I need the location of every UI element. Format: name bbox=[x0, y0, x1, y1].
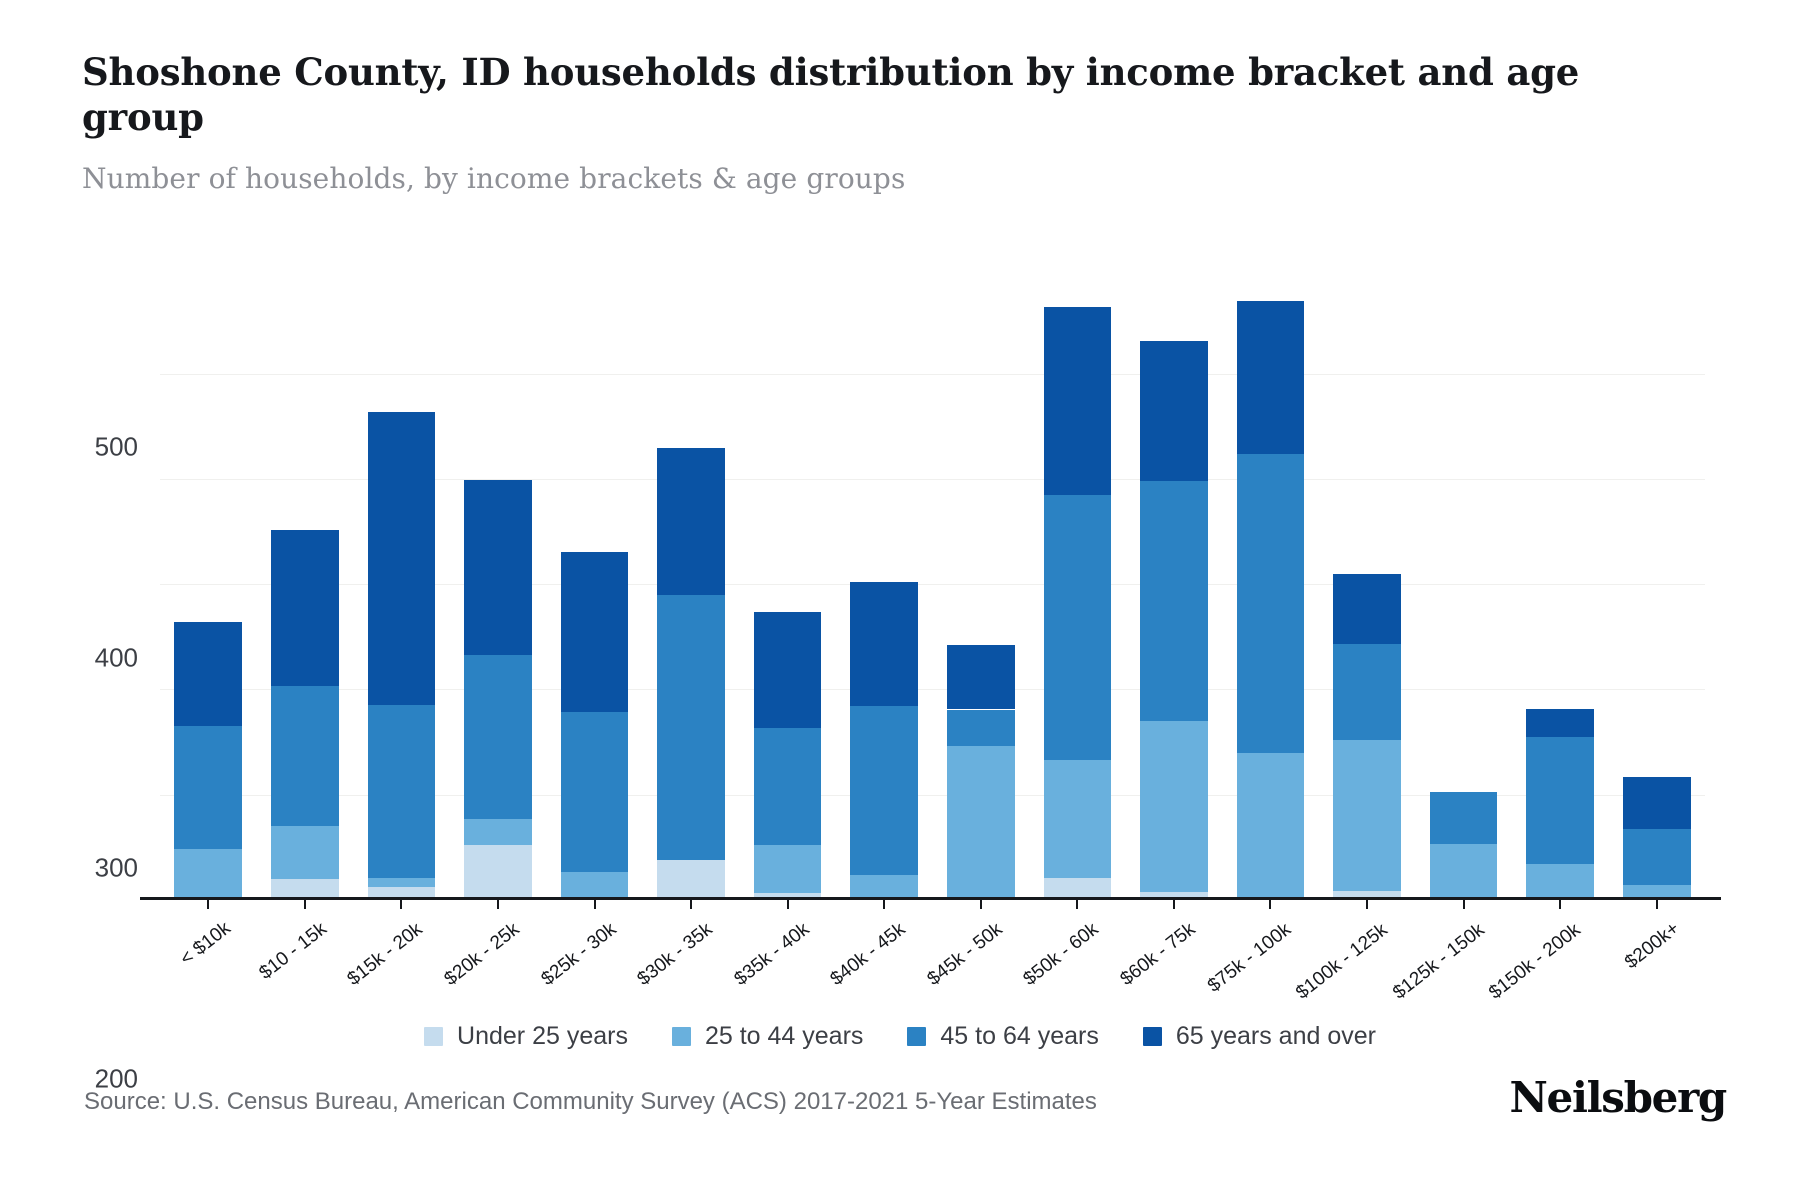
x-axis-tick bbox=[690, 900, 692, 909]
bar-segment[interactable] bbox=[1044, 307, 1112, 494]
bar-segment[interactable] bbox=[1044, 760, 1112, 878]
bar-segment[interactable] bbox=[174, 726, 242, 849]
bar-segment[interactable] bbox=[1430, 792, 1498, 845]
y-axis-tick-label: 300 bbox=[95, 853, 138, 884]
bar-segment[interactable] bbox=[1333, 644, 1401, 740]
x-axis-tick bbox=[980, 900, 982, 909]
legend-label: 45 to 64 years bbox=[940, 1022, 1098, 1051]
x-axis-tick bbox=[1463, 900, 1465, 909]
bar-segment[interactable] bbox=[464, 655, 532, 819]
bar-segment[interactable] bbox=[1140, 481, 1208, 721]
y-axis-tick-label: 400 bbox=[95, 642, 138, 673]
bar-stack[interactable] bbox=[1333, 300, 1401, 900]
bar-segment[interactable] bbox=[464, 480, 532, 655]
bar-stack[interactable] bbox=[754, 300, 822, 900]
bar-segment[interactable] bbox=[368, 878, 436, 887]
x-axis-line bbox=[140, 897, 1721, 900]
bar-segment[interactable] bbox=[657, 595, 725, 860]
bar-segment[interactable] bbox=[947, 710, 1015, 747]
bar-stack[interactable] bbox=[1526, 300, 1594, 900]
x-axis-tick bbox=[594, 900, 596, 909]
bar-segment[interactable] bbox=[1237, 753, 1305, 900]
bar-stack[interactable] bbox=[368, 300, 436, 900]
bar-segment[interactable] bbox=[657, 860, 725, 900]
legend-label: 65 years and over bbox=[1176, 1022, 1376, 1051]
bar-segment[interactable] bbox=[947, 645, 1015, 709]
chart-legend: Under 25 years25 to 44 years45 to 64 yea… bbox=[0, 1022, 1800, 1051]
x-axis-tick-label: $125k - 150k bbox=[1389, 919, 1489, 1004]
bar-stack[interactable] bbox=[850, 300, 918, 900]
bar-segment[interactable] bbox=[754, 612, 822, 729]
bar-segment[interactable] bbox=[1333, 740, 1401, 891]
x-axis-tick-label: $50k - 60k bbox=[1020, 919, 1103, 991]
x-axis-tick-label: $75k - 100k bbox=[1204, 919, 1296, 997]
source-note: Source: U.S. Census Bureau, American Com… bbox=[84, 1088, 1097, 1116]
bar-segment[interactable] bbox=[1237, 454, 1305, 753]
gridline: 0 bbox=[160, 900, 1705, 901]
x-axis-tick bbox=[787, 900, 789, 909]
x-axis-tick-label: $20k - 25k bbox=[441, 919, 524, 991]
bar-stack[interactable] bbox=[561, 300, 629, 900]
bar-segment[interactable] bbox=[947, 746, 1015, 900]
bar-segment[interactable] bbox=[1044, 495, 1112, 760]
x-axis-tick bbox=[304, 900, 306, 909]
bar-segment[interactable] bbox=[1237, 301, 1305, 454]
bar-segment[interactable] bbox=[368, 705, 436, 878]
bar-segment[interactable] bbox=[1140, 721, 1208, 892]
legend-swatch-icon bbox=[1143, 1027, 1162, 1046]
x-axis-tick-label: $10 - 15k bbox=[255, 918, 331, 984]
bar-segment[interactable] bbox=[368, 412, 436, 706]
legend-item[interactable]: 45 to 64 years bbox=[907, 1022, 1098, 1051]
bar-stack[interactable] bbox=[174, 300, 242, 900]
bar-segment[interactable] bbox=[561, 712, 629, 872]
bar-segment[interactable] bbox=[271, 686, 339, 826]
bar-stack[interactable] bbox=[1044, 300, 1112, 900]
legend-swatch-icon bbox=[672, 1027, 691, 1046]
x-axis-tick-label: < $10k bbox=[177, 918, 236, 971]
x-axis-tick bbox=[1173, 900, 1175, 909]
legend-item[interactable]: 65 years and over bbox=[1143, 1022, 1376, 1051]
x-axis-tick bbox=[400, 900, 402, 909]
bar-segment[interactable] bbox=[464, 819, 532, 845]
x-axis-tick bbox=[497, 900, 499, 909]
legend-swatch-icon bbox=[424, 1027, 443, 1046]
bar-segment[interactable] bbox=[850, 582, 918, 706]
x-axis-tick bbox=[883, 900, 885, 909]
bar-stack[interactable] bbox=[1140, 300, 1208, 900]
bar-segment[interactable] bbox=[1526, 864, 1594, 900]
legend-label: 25 to 44 years bbox=[705, 1022, 863, 1051]
x-axis-tick bbox=[207, 900, 209, 909]
x-axis-tick-label: $25k - 30k bbox=[537, 919, 620, 991]
chart-page: Shoshone County, ID households distribut… bbox=[0, 0, 1800, 1200]
legend-item[interactable]: Under 25 years bbox=[424, 1022, 628, 1051]
bar-segment[interactable] bbox=[271, 530, 339, 687]
bar-segment[interactable] bbox=[561, 872, 629, 900]
bar-segment[interactable] bbox=[561, 552, 629, 712]
bar-stack[interactable] bbox=[1237, 300, 1305, 900]
bar-segment[interactable] bbox=[271, 826, 339, 879]
bar-segment[interactable] bbox=[1623, 829, 1691, 885]
x-axis-tick-label: $100k - 125k bbox=[1292, 919, 1392, 1004]
bar-segment[interactable] bbox=[850, 706, 918, 874]
plot-wrapper: 0100200300400500 < $10k$10 - 15k$15k - 2… bbox=[0, 0, 1800, 1200]
x-axis-tick-label: $40k - 45k bbox=[827, 919, 910, 991]
bar-segment[interactable] bbox=[1430, 844, 1498, 900]
bar-segment[interactable] bbox=[174, 622, 242, 726]
legend-item[interactable]: 25 to 44 years bbox=[672, 1022, 863, 1051]
bar-segment[interactable] bbox=[464, 845, 532, 900]
x-axis-tick bbox=[1076, 900, 1078, 909]
brand-logo: Neilsberg bbox=[1509, 1073, 1726, 1122]
bar-segment[interactable] bbox=[1526, 709, 1594, 736]
legend-label: Under 25 years bbox=[457, 1022, 628, 1051]
bar-stack[interactable] bbox=[947, 300, 1015, 900]
x-axis-tick-label: $60k - 75k bbox=[1116, 919, 1199, 991]
bars-layer bbox=[160, 300, 1705, 900]
bar-segment[interactable] bbox=[1623, 777, 1691, 830]
bar-segment[interactable] bbox=[1140, 341, 1208, 481]
x-axis-tick bbox=[1366, 900, 1368, 909]
bar-segment[interactable] bbox=[754, 845, 822, 892]
bar-segment[interactable] bbox=[754, 728, 822, 845]
x-axis-tick-label: $35k - 40k bbox=[730, 919, 813, 991]
x-axis-tick-label: $30k - 35k bbox=[634, 919, 717, 991]
x-axis-tick-label: $200k+ bbox=[1621, 918, 1684, 974]
bar-stack[interactable] bbox=[1623, 300, 1691, 900]
x-axis-tick-label: $45k - 50k bbox=[923, 919, 1006, 991]
bar-stack[interactable] bbox=[1430, 300, 1498, 900]
bar-stack[interactable] bbox=[464, 300, 532, 900]
plot-area: 0100200300400500 < $10k$10 - 15k$15k - 2… bbox=[160, 300, 1705, 900]
bar-segment[interactable] bbox=[1333, 574, 1401, 645]
x-axis-tick bbox=[1269, 900, 1271, 909]
x-axis-tick bbox=[1559, 900, 1561, 909]
legend-swatch-icon bbox=[907, 1027, 926, 1046]
y-axis-tick-label: 500 bbox=[95, 432, 138, 463]
x-axis-tick-label: $15k - 20k bbox=[344, 919, 427, 991]
x-axis-tick bbox=[1656, 900, 1658, 909]
bar-segment[interactable] bbox=[174, 849, 242, 900]
bar-stack[interactable] bbox=[271, 300, 339, 900]
bar-segment[interactable] bbox=[1526, 737, 1594, 864]
bar-stack[interactable] bbox=[657, 300, 725, 900]
bar-segment[interactable] bbox=[657, 448, 725, 594]
x-axis-tick-label: $150k - 200k bbox=[1485, 919, 1585, 1004]
